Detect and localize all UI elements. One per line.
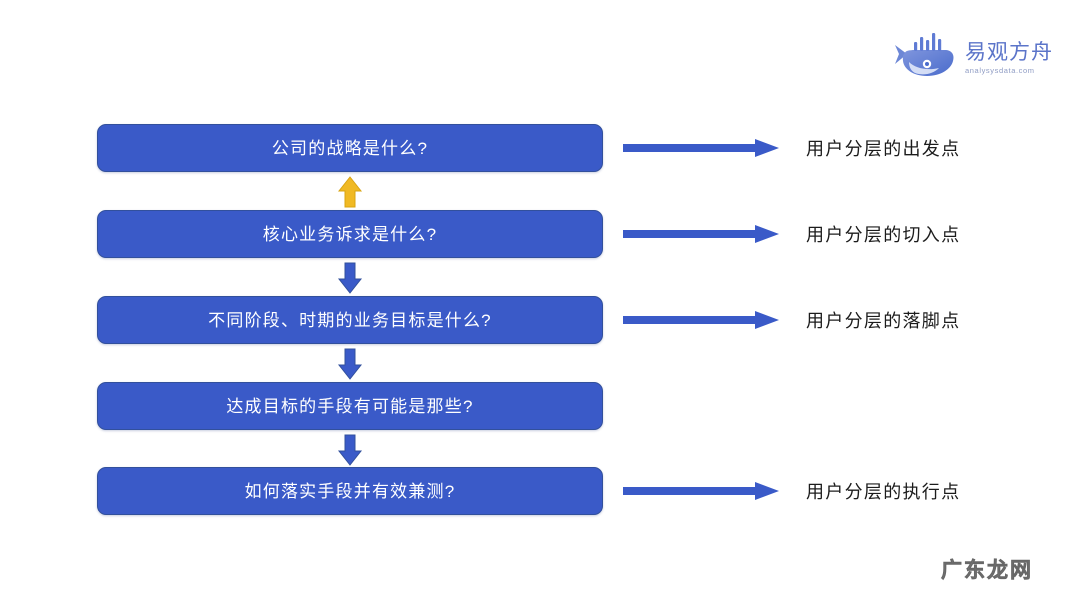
arrow-right-icon	[623, 481, 779, 501]
flow-box-possible-means: 达成目标的手段有可能是那些?	[97, 382, 603, 430]
flow-box-core-business-demand: 核心业务诉求是什么?	[97, 210, 603, 258]
flow-box-label: 达成目标的手段有可能是那些?	[226, 398, 473, 415]
outcome-label-landing-point: 用户分层的落脚点	[806, 312, 960, 330]
outcome-label-execution-point: 用户分层的执行点	[806, 483, 960, 501]
outcome-label-entry-point: 用户分层的切入点	[806, 226, 960, 244]
whale-bar-chart-icon	[893, 31, 959, 83]
arrow-down-icon	[329, 260, 371, 296]
brand-logo-text: 易观方舟 analysysdata.com	[965, 40, 1053, 75]
flow-box-strategy: 公司的战略是什么?	[97, 124, 603, 172]
flow-box-label: 如何落实手段并有效兼测?	[245, 483, 456, 500]
flow-box-label: 核心业务诉求是什么?	[263, 226, 437, 243]
flow-box-stage-goals: 不同阶段、时期的业务目标是什么?	[97, 296, 603, 344]
brand-logo-title: 易观方舟	[965, 42, 1053, 64]
arrow-right-icon	[623, 224, 779, 244]
arrow-right-icon	[623, 138, 779, 158]
watermark: 广东龙网	[941, 560, 1033, 581]
brand-logo: 易观方舟 analysysdata.com	[893, 26, 1053, 88]
diagram-canvas: 易观方舟 analysysdata.com 公司的战略是什么? 核心业务诉求是什…	[0, 0, 1080, 608]
flow-box-label: 不同阶段、时期的业务目标是什么?	[208, 312, 492, 329]
flow-box-label: 公司的战略是什么?	[272, 140, 428, 157]
arrow-down-icon	[329, 346, 371, 382]
outcome-label-starting-point: 用户分层的出发点	[806, 140, 960, 158]
brand-logo-subtitle: analysysdata.com	[965, 67, 1053, 75]
flow-box-implementation: 如何落实手段并有效兼测?	[97, 467, 603, 515]
arrow-right-icon	[623, 310, 779, 330]
arrow-down-icon	[329, 432, 371, 468]
arrow-up-icon	[329, 174, 371, 210]
